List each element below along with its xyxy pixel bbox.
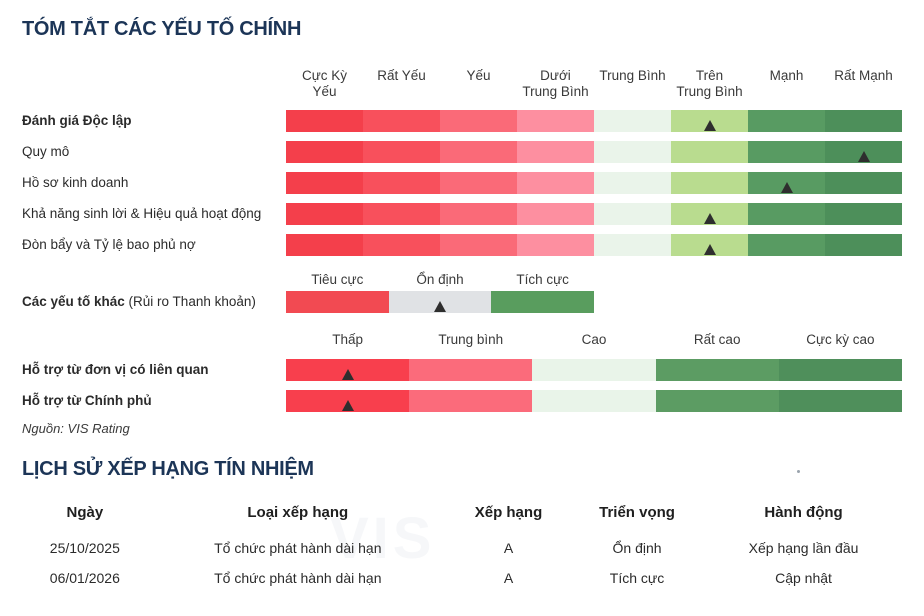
report-page: TÓM TẮT CÁC YẾU TỐ CHÍNH Cực Kỳ YếuRất Y… bbox=[0, 0, 924, 616]
scale-segment-3 bbox=[440, 172, 517, 194]
scale-segment-5 bbox=[594, 203, 671, 225]
factor-row-label: Đánh giá Độc lập bbox=[22, 113, 132, 129]
table-cell-3: A bbox=[448, 563, 569, 593]
page-title-rating-history: LỊCH SỬ XẾP HẠNG TÍN NHIỆM bbox=[22, 458, 314, 481]
scale-segment-5 bbox=[594, 172, 671, 194]
scale-segment-8 bbox=[825, 141, 902, 163]
scale-segment-3 bbox=[440, 110, 517, 132]
scale-label-8: Rất Mạnh bbox=[811, 68, 916, 84]
table-cell-5: Cập nhật bbox=[705, 563, 902, 593]
scale-segment-1 bbox=[286, 203, 363, 225]
score-marker-triangle bbox=[704, 120, 716, 131]
table-row: 06/01/2026Tổ chức phát hành dài hạnATích… bbox=[22, 563, 902, 593]
scale-segment-1 bbox=[286, 291, 389, 313]
factor-scale-bar bbox=[286, 291, 594, 313]
factor-row-label: Đòn bẩy và Tỷ lệ bao phủ nợ bbox=[22, 237, 196, 253]
scale-segment-8 bbox=[825, 172, 902, 194]
score-marker-triangle bbox=[858, 151, 870, 162]
scale-segment-3 bbox=[440, 203, 517, 225]
scale-segment-3 bbox=[532, 359, 655, 381]
score-marker-triangle bbox=[704, 244, 716, 255]
table-cell-4: Tích cực bbox=[569, 563, 705, 593]
score-marker-triangle bbox=[781, 182, 793, 193]
table-body: 25/10/2025Tổ chức phát hành dài hạnAỔn đ… bbox=[22, 533, 902, 593]
factor-scale-bar bbox=[286, 141, 902, 163]
scale-segment-2 bbox=[363, 234, 440, 256]
scale-segment-6 bbox=[671, 172, 748, 194]
table-col-header-2: Loại xếp hạng bbox=[148, 498, 448, 533]
scale-segment-3 bbox=[532, 390, 655, 412]
table-col-header-5: Hành động bbox=[705, 498, 902, 533]
scale-segment-5 bbox=[779, 359, 902, 381]
scale-segment-4 bbox=[656, 359, 779, 381]
factor-row-label: Hỗ trợ từ đơn vị có liên quan bbox=[22, 362, 208, 378]
scale-segment-7 bbox=[748, 203, 825, 225]
scale-segment-6 bbox=[671, 203, 748, 225]
other-scale-label-3: Tích cực bbox=[477, 272, 608, 288]
scale-segment-2 bbox=[409, 359, 532, 381]
factor-row-label: Khả năng sinh lời & Hiệu quả hoạt động bbox=[22, 206, 261, 222]
score-marker-triangle bbox=[704, 213, 716, 224]
scale-segment-1 bbox=[286, 172, 363, 194]
factor-row-label-main: Các yếu tố khác bbox=[22, 294, 129, 309]
factor-row-label: Hỗ trợ từ Chính phủ bbox=[22, 393, 152, 409]
scale-segment-3 bbox=[440, 234, 517, 256]
table-cell-2: Tổ chức phát hành dài hạn bbox=[148, 533, 448, 563]
scale-segment-6 bbox=[671, 110, 748, 132]
score-marker-triangle bbox=[434, 301, 446, 312]
scale-segment-3 bbox=[491, 291, 594, 313]
table-header-row: NgàyLoại xếp hạngXếp hạngTriển vọngHành … bbox=[22, 498, 902, 533]
scale-label-5: Cực kỳ cao bbox=[765, 332, 916, 348]
scale-segment-1 bbox=[286, 141, 363, 163]
scale-segment-5 bbox=[594, 110, 671, 132]
scale-segment-5 bbox=[779, 390, 902, 412]
rating-history-table: NgàyLoại xếp hạngXếp hạngTriển vọngHành … bbox=[22, 498, 902, 593]
score-marker-triangle bbox=[342, 400, 354, 411]
factor-row-label-sub: (Rủi ro Thanh khoản) bbox=[129, 294, 256, 309]
scale-segment-4 bbox=[656, 390, 779, 412]
factor-scale-bar bbox=[286, 203, 902, 225]
table-row: 25/10/2025Tổ chức phát hành dài hạnAỔn đ… bbox=[22, 533, 902, 563]
table-col-header-4: Triển vọng bbox=[569, 498, 705, 533]
source-note: Nguồn: VIS Rating bbox=[22, 421, 130, 436]
scale-segment-8 bbox=[825, 234, 902, 256]
table-cell-4: Ổn định bbox=[569, 533, 705, 563]
scale-segment-6 bbox=[671, 141, 748, 163]
scale-segment-3 bbox=[440, 141, 517, 163]
scale-segment-6 bbox=[671, 234, 748, 256]
scale-segment-8 bbox=[825, 110, 902, 132]
scale-segment-7 bbox=[748, 141, 825, 163]
factor-row-label: Quy mô bbox=[22, 144, 69, 160]
scale-segment-1 bbox=[286, 390, 409, 412]
table-cell-2: Tổ chức phát hành dài hạn bbox=[148, 563, 448, 593]
scale-segment-1 bbox=[286, 359, 409, 381]
factor-row-label: Các yếu tố khác (Rủi ro Thanh khoản) bbox=[22, 294, 256, 310]
scale-segment-4 bbox=[517, 141, 594, 163]
scale-segment-1 bbox=[286, 234, 363, 256]
scale-segment-2 bbox=[363, 141, 440, 163]
table-cell-1: 06/01/2026 bbox=[22, 563, 148, 593]
factor-scale-bar bbox=[286, 359, 902, 381]
scale-segment-2 bbox=[409, 390, 532, 412]
table-cell-3: A bbox=[448, 533, 569, 563]
scale-segment-8 bbox=[825, 203, 902, 225]
factor-scale-bar bbox=[286, 110, 902, 132]
scale-segment-2 bbox=[363, 110, 440, 132]
factor-scale-bar bbox=[286, 390, 902, 412]
scale-segment-4 bbox=[517, 203, 594, 225]
scale-segment-2 bbox=[363, 203, 440, 225]
table-col-header-1: Ngày bbox=[22, 498, 148, 533]
scale-segment-5 bbox=[594, 141, 671, 163]
page-title-key-factors: TÓM TẮT CÁC YẾU TỐ CHÍNH bbox=[22, 18, 301, 41]
scale-segment-2 bbox=[363, 172, 440, 194]
factor-row-label: Hồ sơ kinh doanh bbox=[22, 175, 128, 191]
page-artifact-dot bbox=[797, 470, 800, 473]
table-cell-5: Xếp hạng lần đầu bbox=[705, 533, 902, 563]
scale-segment-4 bbox=[517, 234, 594, 256]
score-marker-triangle bbox=[342, 369, 354, 380]
scale-segment-4 bbox=[517, 110, 594, 132]
scale-segment-7 bbox=[748, 172, 825, 194]
scale-segment-1 bbox=[286, 110, 363, 132]
table-cell-1: 25/10/2025 bbox=[22, 533, 148, 563]
scale-segment-2 bbox=[389, 291, 492, 313]
factor-scale-bar bbox=[286, 234, 902, 256]
scale-segment-7 bbox=[748, 234, 825, 256]
scale-segment-5 bbox=[594, 234, 671, 256]
factor-scale-bar bbox=[286, 172, 902, 194]
scale-segment-7 bbox=[748, 110, 825, 132]
scale-segment-4 bbox=[517, 172, 594, 194]
table-col-header-3: Xếp hạng bbox=[448, 498, 569, 533]
